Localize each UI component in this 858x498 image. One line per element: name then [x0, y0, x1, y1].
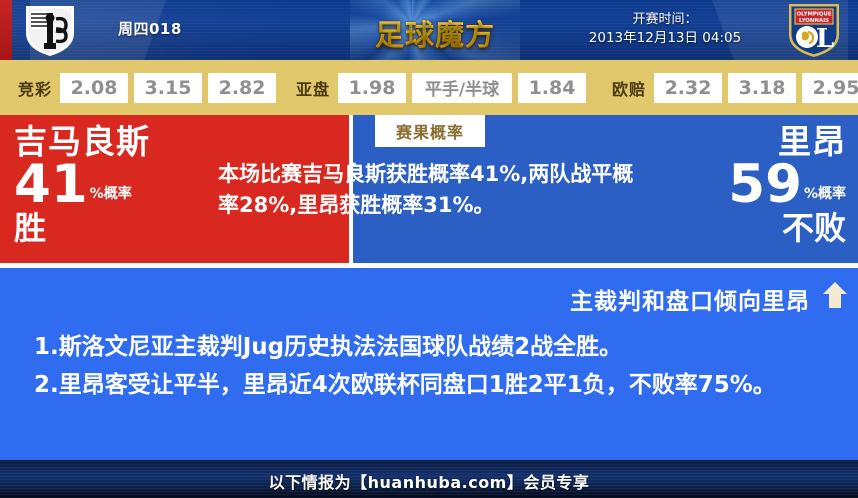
home-percent-unit: %概率 — [90, 187, 132, 210]
away-probability-figures: 里昂 59 %概率 不败 — [728, 125, 846, 244]
brand-title: 足球魔方 — [350, 12, 520, 54]
odds-cell[interactable]: 1.98 — [338, 73, 406, 103]
odds-group-yapan: 亚盘1.98平手/半球1.84 — [296, 60, 592, 115]
away-team-crest-icon: OLYMPIQUE LYONNAIS L — [786, 2, 842, 58]
infographic-page: 周四018 足球魔方 开赛时间： 2013年12月13日 04:05 OLYMP… — [0, 0, 858, 498]
odds-cell[interactable]: 2.82 — [208, 73, 276, 103]
footer-bar: 以下情报为【huanhuba.com】会员专享 — [0, 460, 858, 498]
odds-cell[interactable]: 平手/半球 — [412, 73, 512, 103]
insights-list: 1.斯洛文尼亚主裁判Jug历史执法法国球队战绩2战全胜。2.里昂客受让平半，里昂… — [34, 328, 834, 404]
kickoff-value: 2013年12月13日 04:05 — [560, 29, 770, 48]
result-probability-panel: 赛果概率 吉马良斯 41 %概率 胜 里昂 59 %概率 不败 本场比赛吉马良斯… — [0, 115, 858, 263]
svg-text:L: L — [816, 24, 834, 54]
probability-summary-text: 本场比赛吉马良斯获胜概率41%,两队战平概率28%,里昂获胜概率31%。 — [218, 159, 638, 221]
odds-group-jingcai: 竞彩2.083.152.82 — [18, 60, 282, 115]
odds-cell[interactable]: 2.08 — [60, 73, 128, 103]
odds-group-oupei: 欧赔2.323.182.95 — [612, 60, 858, 115]
odds-bar: 竞彩2.083.152.82 亚盘1.98平手/半球1.84 欧赔2.323.1… — [0, 60, 858, 115]
header-red-accent-bar — [0, 0, 12, 60]
home-win-percent: 41 — [14, 160, 88, 210]
svg-text:OLYMPIQUE: OLYMPIQUE — [796, 12, 831, 18]
up-arrow-icon — [820, 280, 850, 310]
match-header: 周四018 足球魔方 开赛时间： 2013年12月13日 04:05 OLYMP… — [0, 0, 858, 60]
odds-cell[interactable]: 1.84 — [518, 73, 586, 103]
odds-label: 欧赔 — [612, 76, 646, 100]
brand-logo: 足球魔方 — [350, 0, 520, 60]
away-percent-unit: %概率 — [804, 187, 846, 210]
footer-notice: 以下情报为【huanhuba.com】会员专享 — [0, 469, 858, 493]
insights-panel: 主裁判和盘口倾向里昂 1.斯洛文尼亚主裁判Jug历史执法法国球队战绩2战全胜。2… — [0, 268, 858, 460]
match-number: 周四018 — [118, 18, 182, 39]
insight-item: 2.里昂客受让平半，里昂近4次欧联杯同盘口1胜2平1负，不败率75%。 — [34, 366, 834, 404]
odds-cell[interactable]: 3.18 — [728, 73, 796, 103]
away-result-label: 不败 — [728, 212, 846, 244]
insight-item: 1.斯洛文尼亚主裁判Jug历史执法法国球队战绩2战全胜。 — [34, 328, 834, 366]
home-result-label: 胜 — [14, 212, 214, 244]
home-team-crest-icon — [22, 3, 78, 58]
odds-cell[interactable]: 3.15 — [134, 73, 202, 103]
tab-result-probability[interactable]: 赛果概率 — [375, 115, 485, 147]
odds-label: 竞彩 — [18, 76, 52, 100]
home-probability-figures: 吉马良斯 41 %概率 胜 — [14, 125, 214, 244]
odds-cell[interactable]: 2.95 — [802, 73, 858, 103]
kickoff-label: 开赛时间： — [560, 10, 770, 29]
odds-cell[interactable]: 2.32 — [654, 73, 722, 103]
away-win-percent: 59 — [728, 160, 802, 210]
kickoff-time-block: 开赛时间： 2013年12月13日 04:05 — [560, 10, 770, 48]
insights-title: 主裁判和盘口倾向里昂 — [570, 282, 810, 316]
odds-label: 亚盘 — [296, 76, 330, 100]
